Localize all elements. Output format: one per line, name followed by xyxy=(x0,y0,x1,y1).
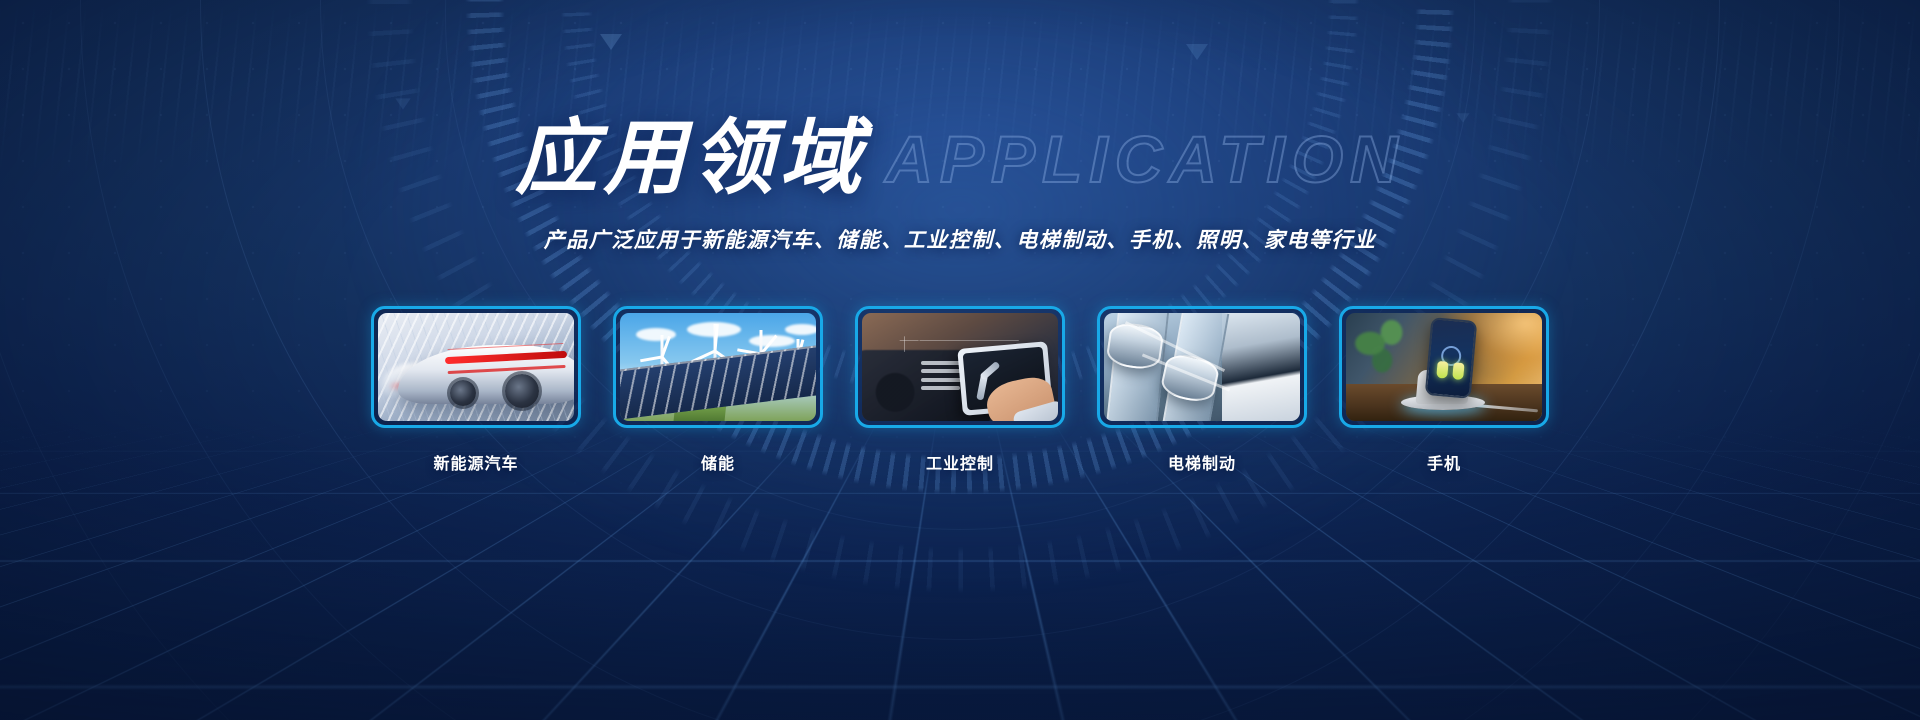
application-banner: 应用领域 APPLICATION 产品广泛应用于新能源汽车、储能、工业控制、电梯… xyxy=(0,0,1920,720)
card-frame xyxy=(1339,306,1549,428)
application-card-mobile-phone[interactable]: 手机 xyxy=(1339,306,1549,474)
industrial-control-tablet-photo xyxy=(862,313,1058,421)
glass-elevators-photo xyxy=(1104,313,1300,421)
page-subtitle: 产品广泛应用于新能源汽车、储能、工业控制、电梯制动、手机、照明、家电等行业 xyxy=(0,224,1920,254)
application-card-energy-storage[interactable]: 储能 xyxy=(613,306,823,474)
card-caption: 电梯制动 xyxy=(1097,450,1307,474)
application-card-list: 新能源汽车 xyxy=(0,306,1920,474)
smartphone-wireless-charger-photo xyxy=(1346,313,1542,421)
page-title: 应用领域 xyxy=(515,118,867,200)
application-card-industrial-control[interactable]: 工业控制 xyxy=(855,306,1065,474)
card-caption: 手机 xyxy=(1339,450,1549,474)
card-frame xyxy=(613,306,823,428)
card-frame xyxy=(1097,306,1307,428)
application-card-elevator-braking[interactable]: 电梯制动 xyxy=(1097,306,1307,474)
card-frame xyxy=(855,306,1065,428)
headline-row: 应用领域 APPLICATION xyxy=(0,118,1920,200)
solar-panels-wind-turbines-photo xyxy=(620,313,816,421)
application-card-ev[interactable]: 新能源汽车 xyxy=(371,306,581,474)
banner-content: 应用领域 APPLICATION 产品广泛应用于新能源汽车、储能、工业控制、电梯… xyxy=(0,0,1920,720)
page-title-english: APPLICATION xyxy=(885,126,1404,192)
card-caption: 储能 xyxy=(613,450,823,474)
electric-sports-car-photo xyxy=(378,313,574,421)
card-caption: 工业控制 xyxy=(855,450,1065,474)
card-caption: 新能源汽车 xyxy=(371,450,581,474)
card-frame xyxy=(371,306,581,428)
